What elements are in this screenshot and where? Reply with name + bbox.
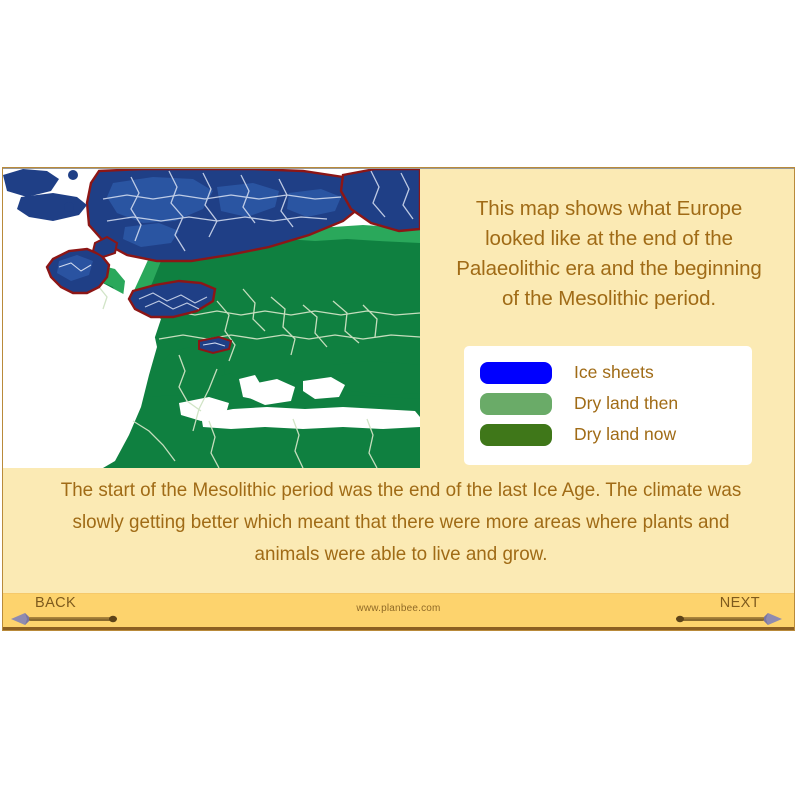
- legend-label-dry-land-now: Dry land now: [574, 426, 676, 444]
- legend-label-ice-sheets: Ice sheets: [574, 364, 654, 382]
- next-button[interactable]: NEXT: [666, 594, 784, 631]
- slide-footer: www.planbee.com BACK NEXT: [3, 593, 794, 630]
- spear-left-icon: [9, 611, 127, 627]
- legend-item-dry-land-now: Dry land now: [464, 419, 752, 450]
- map-graphic: [3, 169, 420, 468]
- legend-swatch-ice-sheets: [480, 362, 552, 384]
- intro-line-1: This map shows what Europe: [423, 194, 795, 224]
- legend-swatch-dry-land-now: [480, 424, 552, 446]
- legend-label-dry-land-then: Dry land then: [574, 395, 678, 413]
- legend-item-ice-sheets: Ice sheets: [464, 357, 752, 388]
- screenshot-stage: This map shows what Europe looked like a…: [0, 0, 800, 800]
- europe-ice-age-map: [3, 169, 420, 468]
- legend-item-dry-land-then: Dry land then: [464, 388, 752, 419]
- slide: This map shows what Europe looked like a…: [2, 167, 795, 631]
- map-legend: Ice sheets Dry land then Dry land now: [464, 346, 752, 465]
- next-button-label: NEXT: [666, 596, 784, 611]
- intro-line-4: of the Mesolithic period.: [423, 284, 795, 314]
- intro-line-3: Palaeolithic era and the beginning: [423, 254, 795, 284]
- body-paragraph: The start of the Mesolithic period was t…: [38, 475, 764, 570]
- back-button-label: BACK: [9, 596, 127, 611]
- intro-text: This map shows what Europe looked like a…: [423, 194, 795, 314]
- legend-swatch-dry-land-then: [480, 393, 552, 415]
- back-button[interactable]: BACK: [9, 594, 127, 631]
- intro-line-2: looked like at the end of the: [423, 224, 795, 254]
- spear-right-icon: [666, 611, 784, 627]
